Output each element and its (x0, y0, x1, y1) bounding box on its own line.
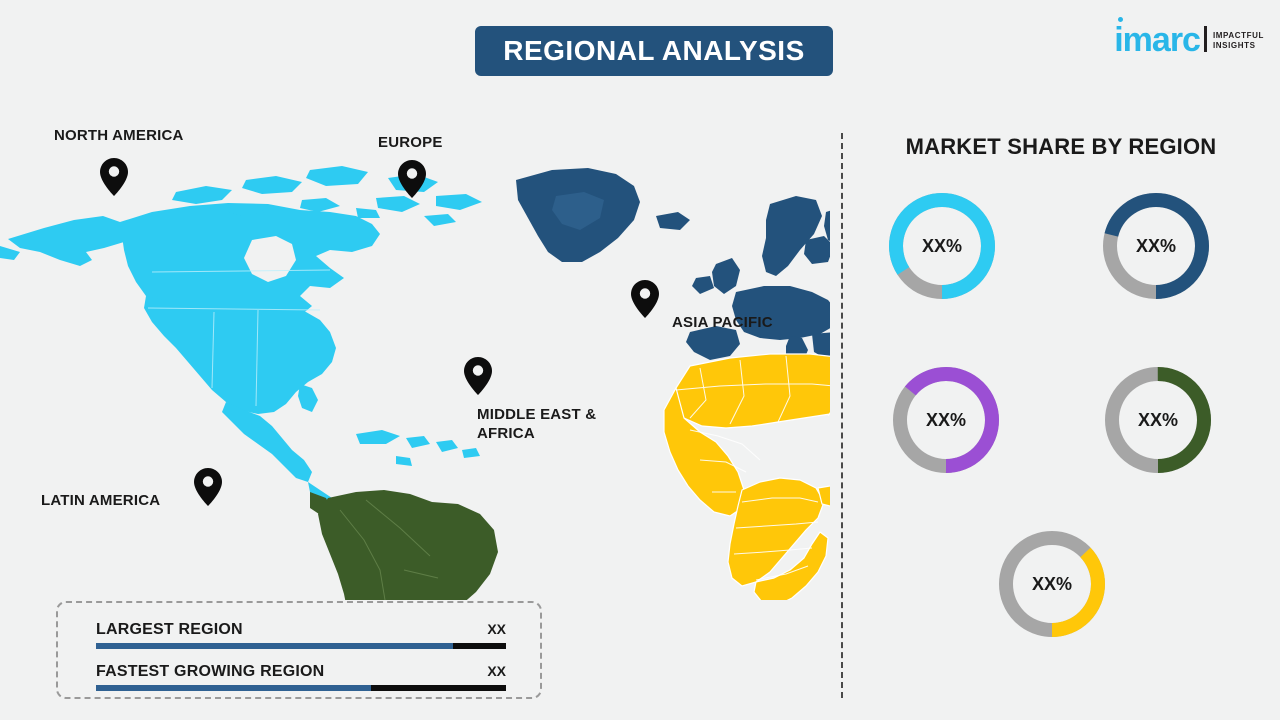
logo-wordmark: imarc (1114, 26, 1200, 54)
map-pin-latin-america-icon[interactable] (194, 468, 222, 506)
legend-progress-track (96, 643, 506, 649)
legend-value: XX (487, 663, 506, 679)
donut-ring (1102, 364, 1214, 476)
donut-ring (996, 528, 1108, 640)
logo-tagline-line2: INSIGHTS (1213, 41, 1264, 51)
legend-progress-track (96, 685, 506, 691)
legend-progress-fill (96, 685, 371, 691)
donut-ring (890, 364, 1002, 476)
map-pin-middle-east-africa-icon[interactable] (464, 357, 492, 395)
donut-chart-asia-pacific[interactable]: XX% (890, 364, 1002, 476)
donut-chart-europe[interactable]: XX% (1100, 190, 1212, 302)
imarc-logo: imarc IMPACTFUL INSIGHTS (1114, 18, 1264, 54)
donut-chart-middle-east-africa[interactable]: XX% (996, 528, 1108, 640)
vertical-dashed-divider (841, 133, 843, 698)
map-region-north-america[interactable] (0, 166, 482, 520)
map-pin-asia-pacific-icon[interactable] (631, 280, 659, 318)
map-region-europe[interactable] (516, 168, 830, 372)
legend-label: LARGEST REGION (96, 621, 243, 639)
map-label-middle-east-africa: MIDDLE EAST & AFRICA (477, 405, 596, 443)
map-pin-europe-icon[interactable] (398, 160, 426, 198)
map-region-latin-america[interactable] (310, 490, 498, 600)
map-label-latin-america: LATIN AMERICA (41, 491, 160, 510)
donut-chart-north-america[interactable]: XX% (886, 190, 998, 302)
donut-ring (1100, 190, 1212, 302)
legend-progress-fill (96, 643, 453, 649)
map-label-europe: EUROPE (378, 133, 443, 152)
logo-tagline: IMPACTFUL INSIGHTS (1213, 31, 1264, 54)
logo-divider-bar (1204, 26, 1207, 52)
logo-tagline-line1: IMPACTFUL (1213, 31, 1264, 41)
market-share-heading: MARKET SHARE BY REGION (888, 134, 1234, 160)
map-label-north-america: NORTH AMERICA (54, 126, 184, 145)
logo-word-text: imarc (1114, 21, 1200, 59)
map-pin-north-america-icon[interactable] (100, 158, 128, 196)
legend-row-fastest-growing-region: FASTEST GROWING REGION XX (96, 663, 506, 691)
legend-box: LARGEST REGION XX FASTEST GROWING REGION… (56, 601, 542, 699)
page-title-banner: REGIONAL ANALYSIS (475, 26, 833, 76)
legend-value: XX (487, 621, 506, 637)
donut-ring (886, 190, 998, 302)
map-region-middle-east-africa[interactable] (664, 348, 830, 600)
legend-label: FASTEST GROWING REGION (96, 663, 324, 681)
legend-row-largest-region: LARGEST REGION XX (96, 621, 506, 649)
map-label-asia-pacific: ASIA PACIFIC (672, 313, 773, 332)
page-title: REGIONAL ANALYSIS (503, 35, 805, 67)
donut-chart-latin-america[interactable]: XX% (1102, 364, 1214, 476)
infographic-canvas: REGIONAL ANALYSIS imarc IMPACTFUL INSIGH… (0, 0, 1280, 720)
